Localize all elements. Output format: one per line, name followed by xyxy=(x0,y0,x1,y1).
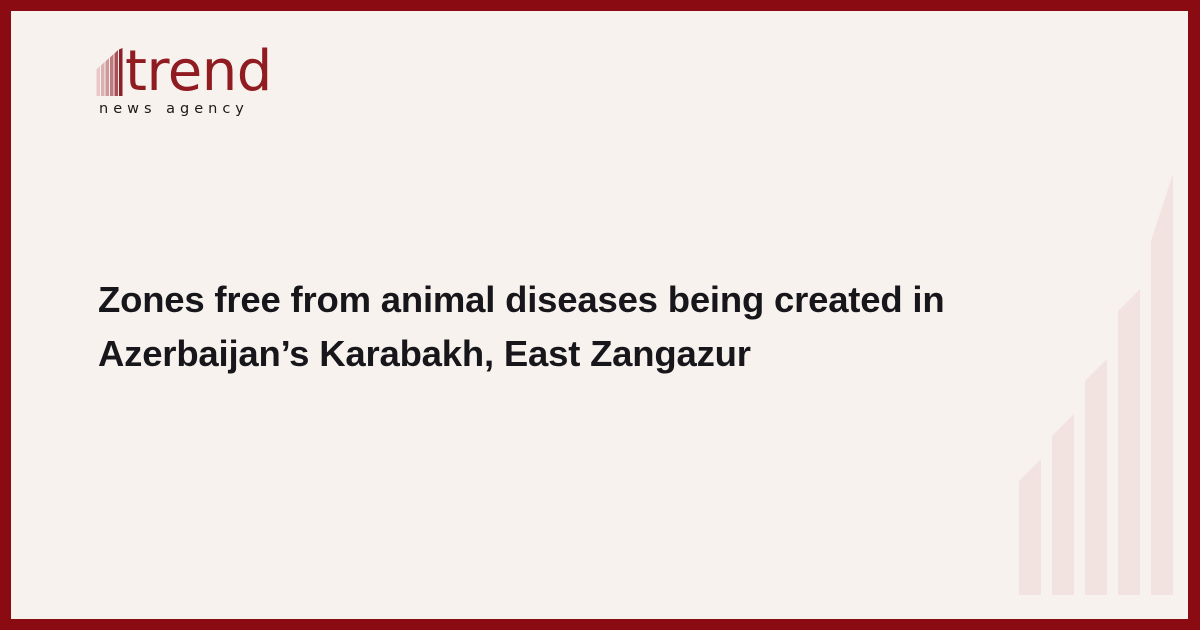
logo-mark-row: trend xyxy=(96,44,281,96)
ascending-bars-decoration xyxy=(1015,11,1175,619)
deco-bar-3 xyxy=(1085,359,1107,595)
ascending-bars-icon xyxy=(96,48,124,96)
social-card: trend news agency Zones free from animal… xyxy=(0,0,1200,630)
deco-bar-1 xyxy=(1019,459,1041,595)
card-inner-surface: trend news agency Zones free from animal… xyxy=(11,11,1188,619)
trend-news-agency-logo[interactable]: trend news agency xyxy=(96,44,281,117)
logo-wordmark: trend xyxy=(125,48,272,96)
headline-line-2: Azerbaijan’s Karabakh, East Zangazur xyxy=(98,327,1018,381)
deco-bar-4 xyxy=(1118,289,1140,595)
deco-bar-2 xyxy=(1052,414,1074,595)
deco-bar-5 xyxy=(1151,174,1173,595)
headline-line-1: Zones free from animal diseases being cr… xyxy=(98,273,1018,327)
headline: Zones free from animal diseases being cr… xyxy=(98,273,1018,381)
